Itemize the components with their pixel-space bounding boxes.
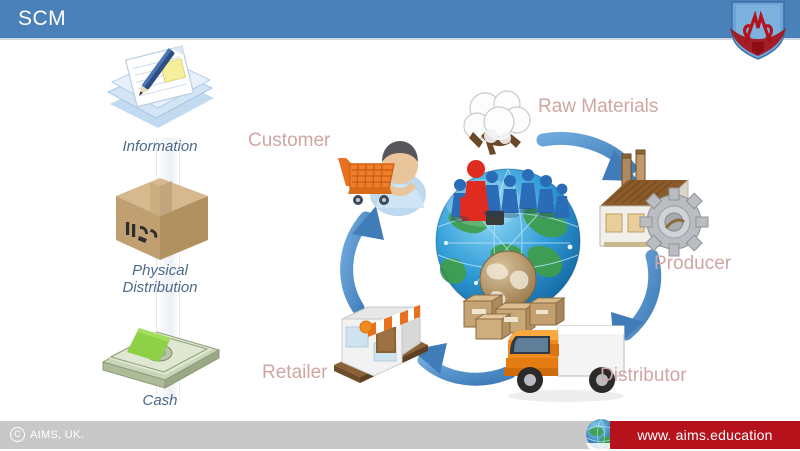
left-flow-column: Information Physical Distribution — [60, 42, 260, 422]
supply-chain-cycle: Raw Materials — [240, 40, 785, 420]
cardboard-box-icon — [106, 170, 218, 266]
shop-storefront-icon — [324, 285, 434, 387]
node-retailer[interactable] — [324, 285, 434, 387]
website-url-text: www. aims.education — [637, 427, 772, 443]
left-label-cash: Cash — [60, 392, 260, 409]
node-distributor[interactable] — [502, 302, 632, 406]
label-retailer: Retailer — [262, 362, 327, 384]
left-label-information: Information — [60, 138, 260, 155]
factory-gear-icon — [592, 150, 712, 262]
copyright-text: AIMS, UK. — [30, 429, 84, 441]
delivery-truck-icon — [502, 302, 632, 406]
documents-folder-icon — [102, 42, 220, 138]
gear-shape — [640, 188, 708, 256]
label-line-1: Physical — [132, 262, 188, 279]
page-title: SCM — [18, 7, 66, 31]
left-label-physical-distribution: Physical Distribution — [60, 262, 260, 297]
customer-cart-icon — [330, 128, 440, 218]
label-producer: Producer — [654, 253, 731, 275]
label-raw-materials: Raw Materials — [538, 96, 658, 118]
copyright-block: C AIMS, UK. — [10, 427, 84, 442]
shopping-cart — [338, 158, 394, 205]
node-raw-materials[interactable] — [455, 88, 541, 158]
node-producer[interactable] — [592, 150, 712, 262]
cash-bundle-icon — [95, 314, 225, 392]
copyright-icon: C — [10, 427, 25, 442]
cotton-boll-icon — [455, 88, 541, 158]
label-distributor: Distributor — [600, 365, 687, 387]
slide-header: SCM — [0, 0, 800, 40]
label-customer: Customer — [248, 130, 330, 152]
node-customer[interactable] — [330, 128, 440, 218]
slide-canvas: SCM — [0, 0, 800, 449]
label-line-2: Distribution — [122, 279, 197, 296]
website-banner[interactable]: www. aims.education — [610, 421, 800, 449]
